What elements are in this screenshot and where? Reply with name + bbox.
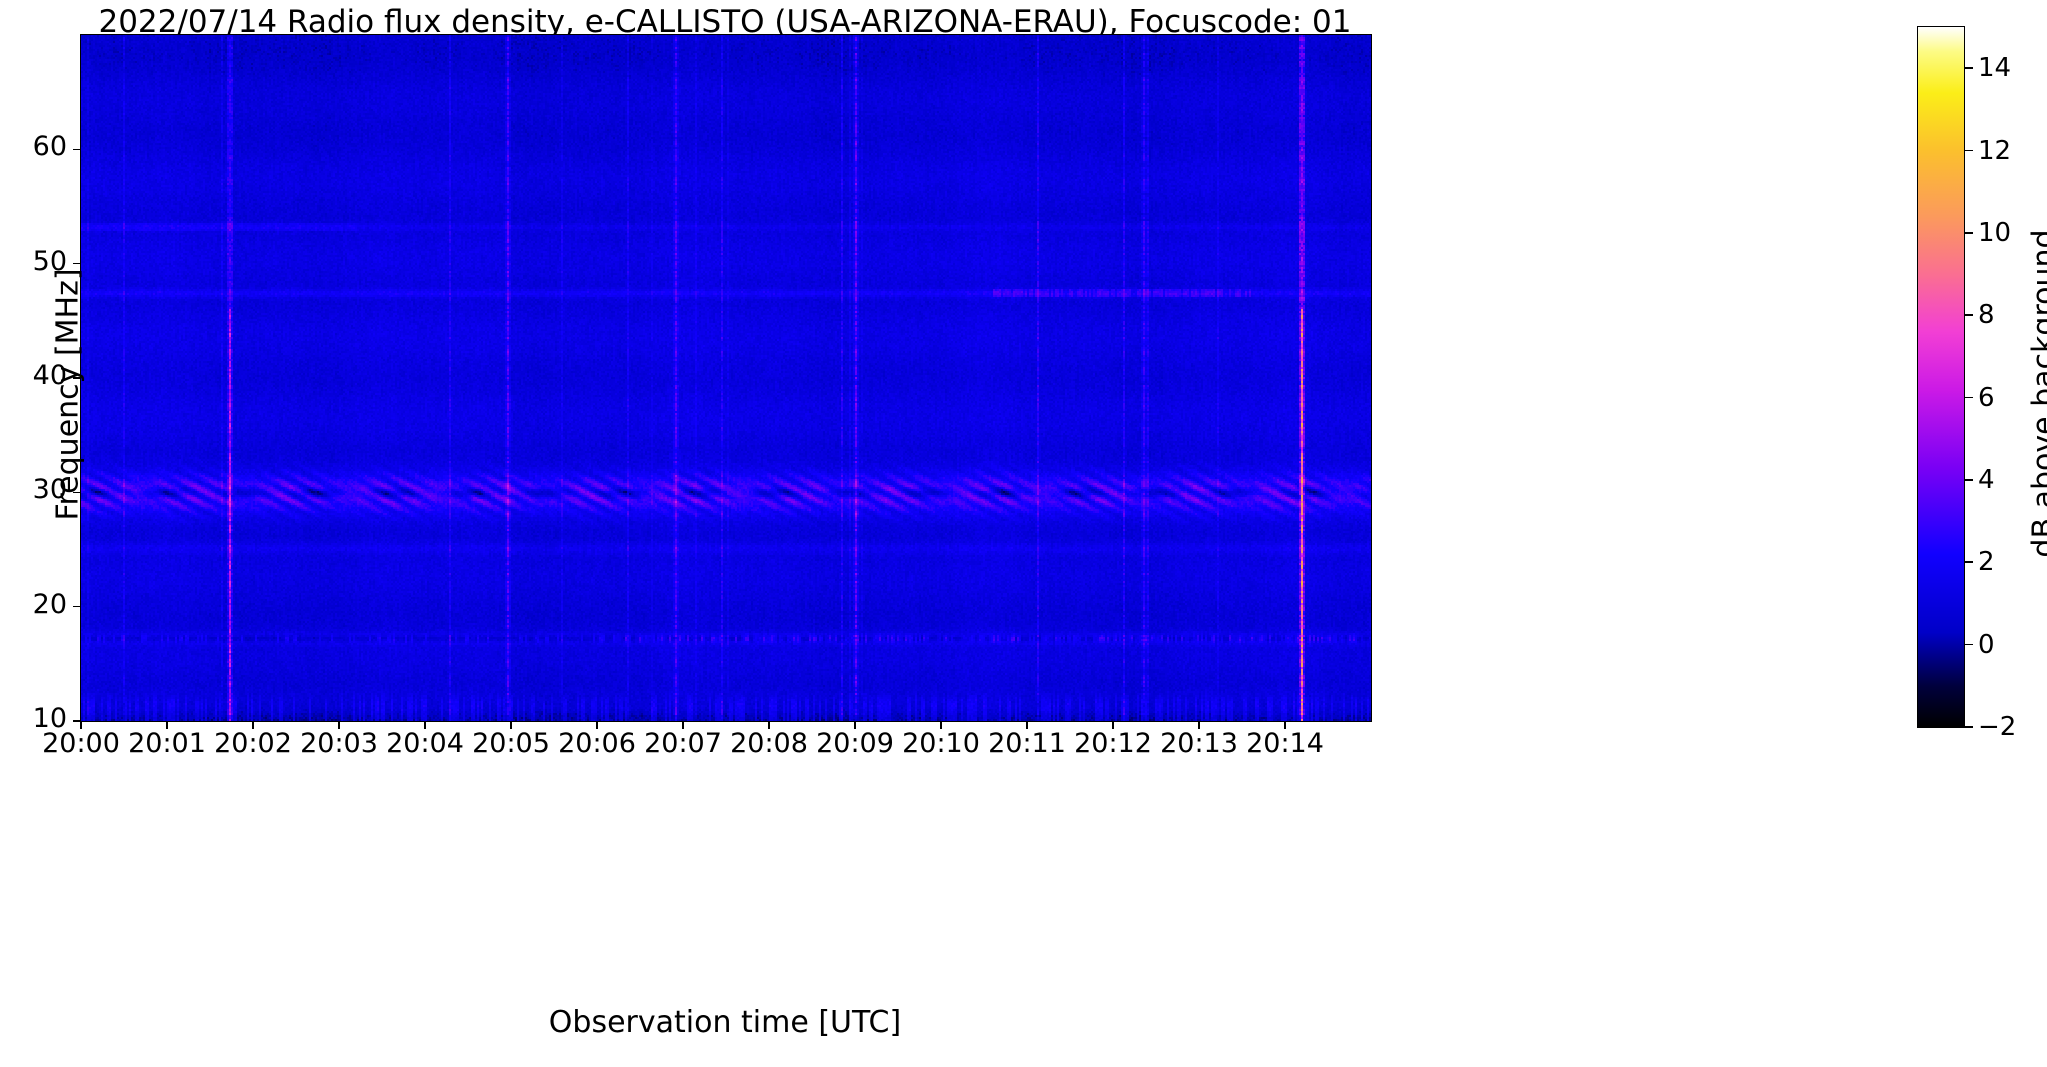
x-tick-label: 20:07 xyxy=(644,728,722,759)
x-tick-label: 20:03 xyxy=(300,728,378,759)
colorbar-tick-mark xyxy=(1965,561,1973,563)
colorbar-tick-label: 4 xyxy=(1978,465,1995,495)
x-tick-label: 20:14 xyxy=(1246,728,1324,759)
colorbar-tick-label: 6 xyxy=(1978,383,1995,413)
colorbar-gradient xyxy=(1918,27,1964,727)
x-tick-label: 20:06 xyxy=(558,728,636,759)
x-tick-label: 20:01 xyxy=(128,728,206,759)
colorbar-tick-mark xyxy=(1965,726,1973,728)
colorbar-tick-mark xyxy=(1965,397,1973,399)
x-tick-label: 20:05 xyxy=(472,728,550,759)
colorbar-tick-mark xyxy=(1965,67,1973,69)
colorbar-tick-label: 14 xyxy=(1978,53,2011,83)
colorbar[interactable] xyxy=(1917,26,1965,728)
colorbar-tick-label: 8 xyxy=(1978,300,1995,330)
colorbar-tick-label: 12 xyxy=(1978,136,2011,166)
spectrogram-plot-area[interactable] xyxy=(80,34,1372,722)
colorbar-tick-mark xyxy=(1965,479,1973,481)
x-tick-label: 20:12 xyxy=(1074,728,1152,759)
colorbar-tick-mark xyxy=(1965,314,1973,316)
x-axis-label: Observation time [UTC] xyxy=(80,1005,1370,1040)
spectrogram-figure: 2022/07/14 Radio flux density, e-CALLIST… xyxy=(0,0,2047,1067)
y-axis-label: Frequency [MHz] xyxy=(51,45,86,745)
colorbar-label: dB above background xyxy=(2027,44,2047,744)
colorbar-tick-label: 2 xyxy=(1978,547,1995,577)
x-tick-label: 20:11 xyxy=(988,728,1066,759)
spectrogram-image xyxy=(81,35,1371,721)
x-tick-label: 20:08 xyxy=(730,728,808,759)
colorbar-tick-mark xyxy=(1965,232,1973,234)
x-tick-label: 20:13 xyxy=(1160,728,1238,759)
colorbar-tick-label: 10 xyxy=(1978,218,2011,248)
colorbar-tick-label: −2 xyxy=(1978,712,2016,742)
colorbar-tick-mark xyxy=(1965,644,1973,646)
x-tick-label: 20:09 xyxy=(816,728,894,759)
x-tick-label: 20:10 xyxy=(902,728,980,759)
x-tick-label: 20:04 xyxy=(386,728,464,759)
x-tick-label: 20:02 xyxy=(214,728,292,759)
colorbar-tick-label: 0 xyxy=(1978,630,1995,660)
colorbar-tick-mark xyxy=(1965,150,1973,152)
